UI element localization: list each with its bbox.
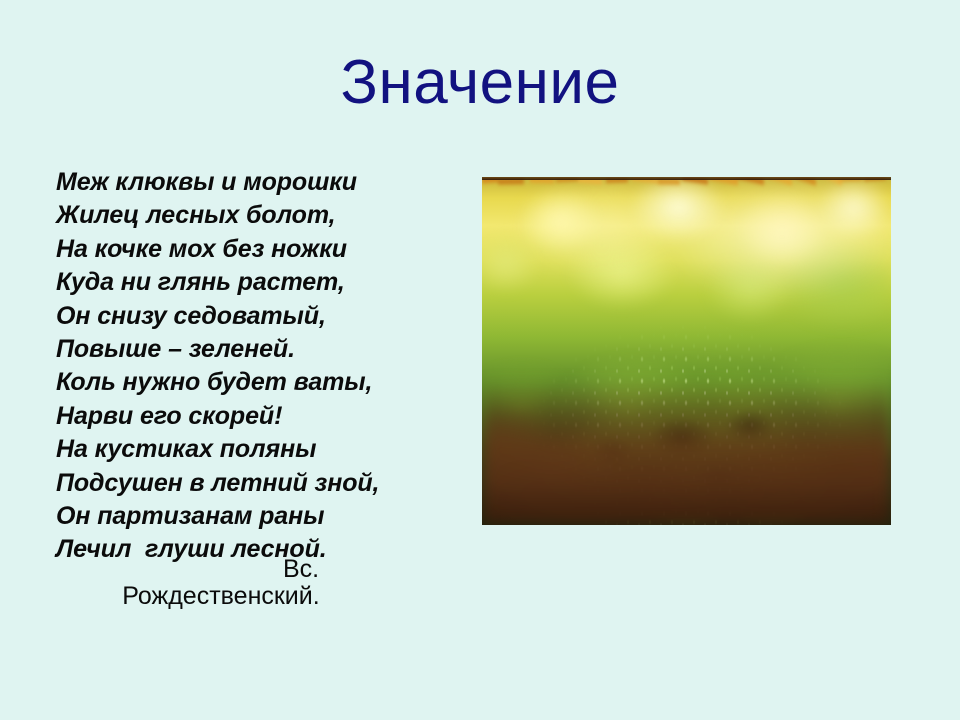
- poem-line: Жилец лесных болот,: [56, 199, 456, 232]
- photo-vignette: [482, 177, 891, 525]
- poem-line: Коль нужно будет ваты,: [56, 366, 456, 399]
- poem-line: На кочке мох без ножки: [56, 233, 456, 266]
- poem-line: Нарви его скорей!: [56, 400, 456, 433]
- slide: Значение Меж клюквы и морошки Жилец лесн…: [0, 0, 960, 720]
- poem-line: Он партизанам раны: [56, 500, 456, 533]
- page-title: Значение: [0, 48, 960, 118]
- poem-attribution: Вс. Рождественский.: [56, 556, 386, 610]
- poem-line: Меж клюквы и морошки: [56, 166, 456, 199]
- poem-line: На кустиках поляны: [56, 433, 456, 466]
- poem-line: Повыше – зеленей.: [56, 333, 456, 366]
- attribution-initials: Вс.: [56, 556, 386, 583]
- attribution-surname: Рождественский.: [56, 583, 386, 610]
- poem-line: Куда ни глянь растет,: [56, 266, 456, 299]
- photo-bottom-edge: [482, 177, 891, 180]
- poem-line: Подсушен в летний зной,: [56, 467, 456, 500]
- poem-text-block: Меж клюквы и морошки Жилец лесных болот,…: [56, 166, 456, 567]
- moss-photograph: [482, 177, 891, 525]
- poem-line: Он снизу седоватый,: [56, 300, 456, 333]
